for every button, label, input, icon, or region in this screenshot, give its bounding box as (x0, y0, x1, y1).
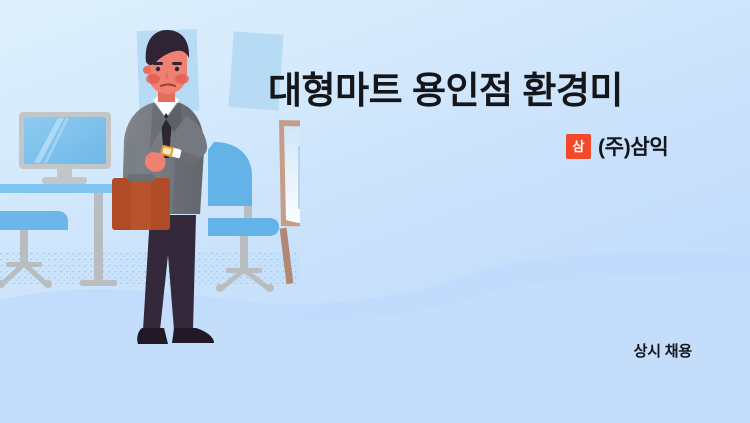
briefcase (112, 174, 170, 230)
hiring-status-label: 상시 채용 (634, 340, 692, 361)
businessman (112, 30, 214, 344)
trousers (143, 215, 196, 330)
desk-monitor (19, 112, 111, 184)
page-title: 대형마트 용인점 환경미 (268, 70, 738, 111)
flipchart-paper (284, 126, 300, 226)
shoe-right (172, 328, 214, 343)
shoe-left (137, 328, 168, 344)
brand-row: 삼 (주)삼익 (566, 131, 668, 161)
company-name: (주)삼익 (598, 131, 668, 161)
hero-illustration (0, 0, 300, 423)
poster-canvas: 대형마트 용인점 환경미 삼 (주)삼익 상시 채용 (0, 0, 750, 423)
company-logo-badge: 삼 (566, 134, 591, 159)
